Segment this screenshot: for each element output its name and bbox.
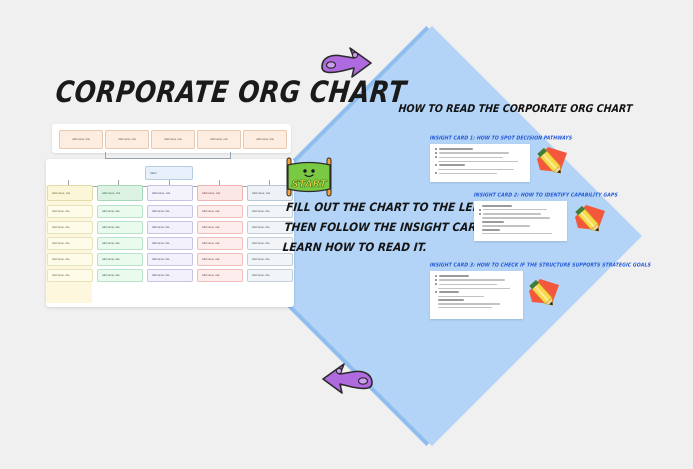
org-node[interactable]: Add name, role [247,269,293,282]
org-node[interactable]: Add name, role [47,237,93,250]
org-node[interactable]: Add name, role [97,253,143,266]
bullet-icon [435,152,437,154]
bullet-icon [435,172,437,174]
org-node[interactable]: Add name, role [47,253,93,266]
insight-card-3: INSIGHT CARD 3: HOW TO CHECK IF THE STRU… [430,263,651,319]
org-node[interactable]: Add name, role [97,269,143,282]
bullet-icon [435,291,437,293]
top-row-box[interactable]: Add name, role [59,130,103,149]
insight-card-1: INSIGHT CARD 1: HOW TO SPOT DECISION PAT… [430,136,572,182]
org-node[interactable]: Add name, role [97,237,143,250]
bullet-icon [435,283,437,285]
instruction-line-2: THEN FOLLOW THE INSIGHT CARDS TO [284,218,476,238]
org-node[interactable]: Add name, role [147,237,193,250]
pencil-icon [572,201,608,238]
column-header[interactable]: Add name, role [147,185,193,201]
start-badge: START [283,156,335,203]
connector-line [230,152,231,159]
pencil-icon [526,275,562,312]
bullet-icon [435,279,437,281]
org-node[interactable]: Add name, role [147,221,193,234]
bullet-icon [435,164,437,166]
pencil-icon [534,143,570,180]
insight-card-3-body[interactable] [430,271,523,319]
start-label: START [291,179,327,190]
bullet-icon [479,209,481,211]
top-row-card: Add name, role Add name, role Add name, … [52,124,291,153]
org-node[interactable]: Add name, role [47,205,93,218]
org-node[interactable]: Add name, role [197,237,243,250]
section-heading: HOW TO READ THE CORPORATE ORG CHART [398,103,633,115]
org-node[interactable]: Add name, role [147,269,193,282]
top-row-box[interactable]: Add name, role [151,130,195,149]
bullet-icon [435,148,437,150]
top-row-box[interactable]: Add name, role [197,130,241,149]
insight-card-2-title: INSIGHT CARD 2: HOW TO IDENTIFY CAPABILI… [473,193,617,199]
org-column-3: Add name, role Add name, role Add name, … [147,185,193,285]
insight-card-3-title: INSIGHT CARD 3: HOW TO CHECK IF THE STRU… [429,263,651,269]
org-chart-card: CEO Add name, role Add name, role Add na… [46,159,294,307]
instructions-text: FILL OUT THE CHART TO THE LEFT FIRST. TH… [282,198,477,257]
instruction-line-1: FILL OUT THE CHART TO THE LEFT FIRST. [285,198,477,218]
bullet-icon [435,275,437,277]
instruction-line-3: LEARN HOW TO READ IT. [282,238,474,258]
insight-card-2-body[interactable] [474,201,567,241]
org-node[interactable]: Add name, role [147,253,193,266]
page-title: CORPORATE ORG CHART [54,75,408,109]
org-node-ceo[interactable]: CEO [145,166,193,180]
arrow-left-icon [320,360,376,400]
top-row-box[interactable]: Add name, role [243,130,287,149]
insight-card-2: INSIGHT CARD 2: HOW TO IDENTIFY CAPABILI… [474,193,618,241]
org-node[interactable]: Add name, role [47,269,93,282]
column-header[interactable]: Add name, role [197,185,243,201]
bullet-icon [435,156,437,158]
org-node[interactable]: Add name, role [97,221,143,234]
column-header[interactable]: Add name, role [47,185,93,201]
column-header[interactable]: Add name, role [97,185,143,201]
org-node[interactable]: Add name, role [197,221,243,234]
insight-card-1-title: INSIGHT CARD 1: HOW TO SPOT DECISION PAT… [429,136,572,142]
insight-card-1-body[interactable] [430,144,530,182]
org-node[interactable]: Add name, role [197,205,243,218]
top-row-box[interactable]: Add name, role [105,130,149,149]
org-node[interactable]: Add name, role [197,269,243,282]
org-node[interactable]: Add name, role [97,205,143,218]
org-node[interactable]: Add name, role [197,253,243,266]
bullet-icon [479,213,481,215]
whiteboard-canvas: CORPORATE ORG CHART Add name, role Add n… [0,0,693,469]
org-column-2: Add name, role Add name, role Add name, … [97,185,143,285]
org-column-1: Add name, role Add name, role Add name, … [47,185,93,285]
org-node[interactable]: Add name, role [147,205,193,218]
org-column-4: Add name, role Add name, role Add name, … [197,185,243,285]
org-node[interactable]: Add name, role [47,221,93,234]
